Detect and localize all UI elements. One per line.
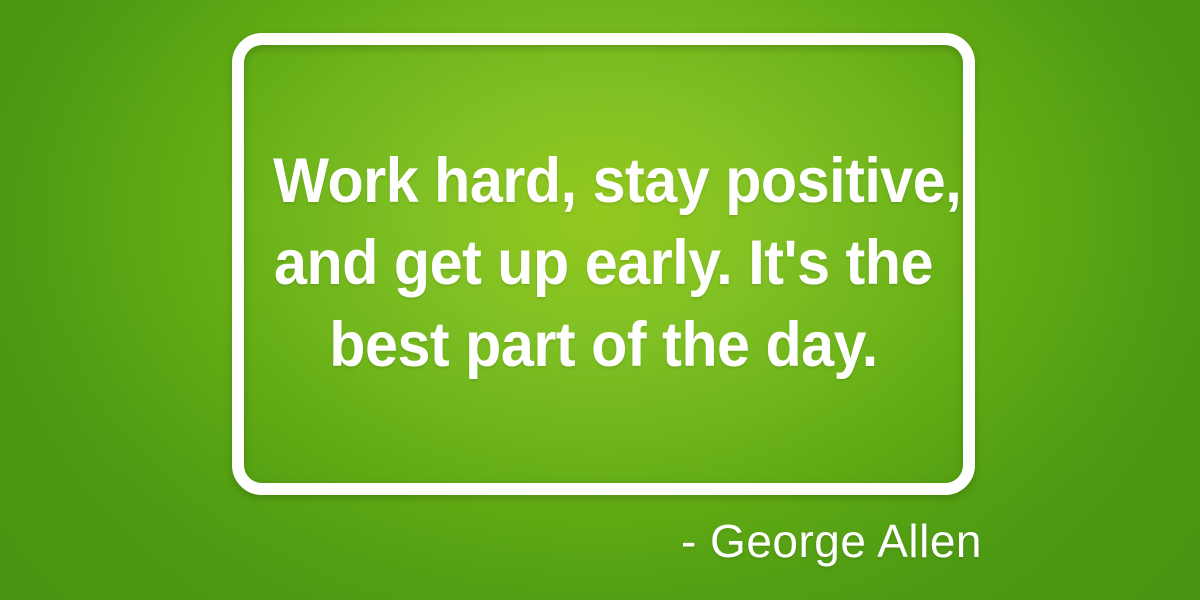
- quote-line-2: and get up early. It's the: [273, 222, 934, 304]
- quote-attribution: - George Allen: [0, 513, 982, 569]
- quote-line-3: best part of the day.: [273, 304, 934, 386]
- quote-line-1: Work hard, stay positive,: [273, 140, 934, 222]
- quote-card: Work hard, stay positive, and get up ear…: [0, 0, 1200, 600]
- quote-text: Work hard, stay positive, and get up ear…: [273, 140, 934, 386]
